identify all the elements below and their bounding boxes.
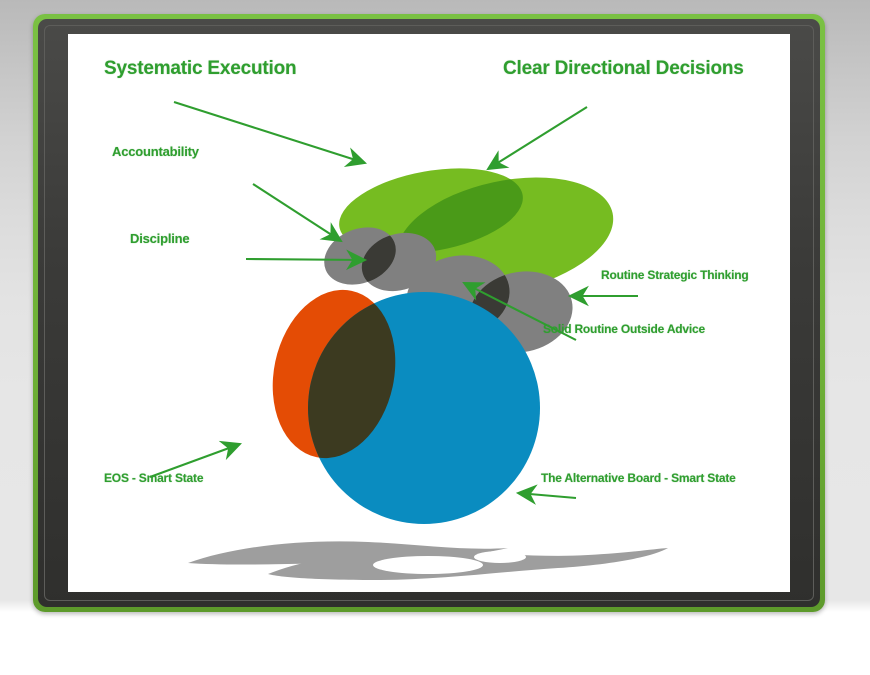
label-eos-smart-state: EOS - Smart State bbox=[104, 471, 203, 485]
label-systematic-execution: Systematic Execution bbox=[104, 58, 296, 80]
label-routine-strategic-thinking: Routine Strategic Thinking bbox=[601, 268, 748, 282]
label-the-alternative-board-smart-state: The Alternative Board - Smart State bbox=[541, 471, 736, 485]
arrow-alternative-board bbox=[518, 493, 576, 498]
label-accountability: Accountability bbox=[112, 144, 199, 159]
label-discipline: Discipline bbox=[130, 231, 189, 246]
label-clear-directional-decisions: Clear Directional Decisions bbox=[503, 58, 744, 80]
arrow-systematic-execution bbox=[174, 102, 365, 163]
callout-arrows bbox=[68, 34, 790, 592]
slide-frame-outer bbox=[33, 14, 825, 612]
diagram-canvas bbox=[68, 34, 790, 592]
slide-frame-inner bbox=[38, 19, 820, 607]
arrow-clear-directional bbox=[488, 107, 587, 169]
arrow-accountability bbox=[253, 184, 341, 241]
arrow-discipline bbox=[246, 259, 365, 260]
label-solid-routine-outside-advice: Solid Routine Outside Advice bbox=[543, 322, 705, 336]
slide-stage: Systematic Execution Clear Directional D… bbox=[0, 0, 870, 675]
